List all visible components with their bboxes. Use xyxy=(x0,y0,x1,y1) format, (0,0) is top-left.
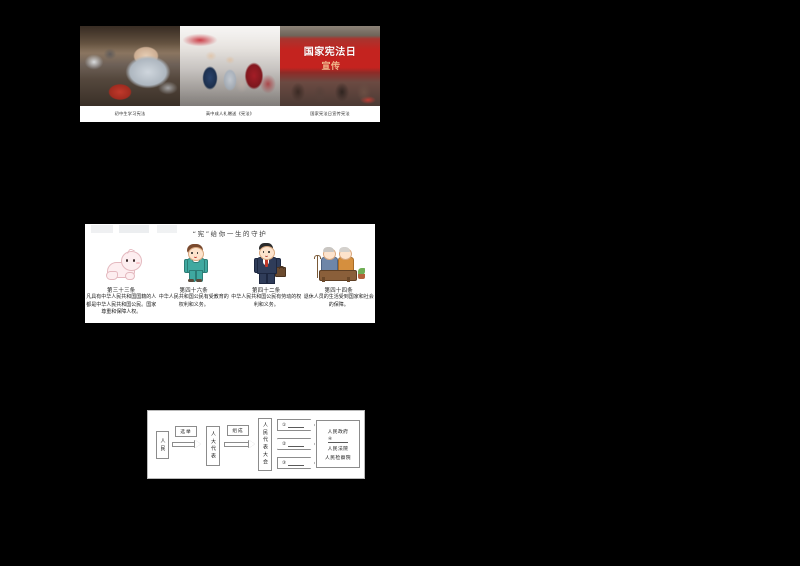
infographic-column-worker: 第四十二条 中华人民共和国公民有劳动的权利和义务。 xyxy=(230,242,303,317)
article-text: 中华人民共和国公民有劳动的权利和义务。 xyxy=(231,294,301,309)
flow-organ-court: 人民法院 xyxy=(328,445,349,452)
photo-overlay xyxy=(180,26,280,106)
flow-label-elect: 选举 xyxy=(175,426,197,437)
infographic-title: “宪”给你一生的守护 xyxy=(85,228,375,238)
article-number: 第四十二条 xyxy=(252,286,280,294)
photo-image-adult-ceremony xyxy=(180,26,280,106)
article-text: 退休人员的生活受到国家和社会的保障。 xyxy=(304,294,374,309)
photo-image-constitution-day: 国家宪法日 宣传 xyxy=(280,26,380,106)
article-number: 第四十四条 xyxy=(325,286,353,294)
flow-organs-box: 人民政府 ④ 人民法院 人民检察院 xyxy=(316,420,360,468)
elderly-couple-icon xyxy=(303,242,375,284)
article-text: 凡具有中华人民共和国国籍的人都是中华人民共和国公民。国家尊重和保障人权。 xyxy=(86,294,156,317)
flow-arrow-2 xyxy=(224,440,256,449)
flow-output-3-blank xyxy=(288,461,304,466)
banner-headline: 国家宪法日 xyxy=(280,43,380,58)
infographic-columns: 第三十三条 凡具有中华人民共和国国籍的人都是中华人民共和国公民。国家尊重和保障人… xyxy=(85,242,375,317)
flow-organ-procuratorate: 人民检察院 xyxy=(325,454,351,461)
photo-strip: 初中生学习宪法 高中成人礼赠送《宪法》 国家宪法日 宣传 国家宪法日宣传宪法 xyxy=(80,26,380,122)
flow-output-1-blank xyxy=(288,423,304,428)
article-number: 第三十三条 xyxy=(107,286,135,294)
photo-caption: 高中成人礼赠送《宪法》 xyxy=(180,106,280,122)
baby-crawling-icon xyxy=(85,242,157,284)
flow-arrow-1 xyxy=(172,440,202,449)
photo-caption: 初中生学习宪法 xyxy=(80,106,180,122)
flow-diagram: 人民 选举 人大代表 组成 人民代表大会 ① ② ③ 人民政府 ④ 人民法院 人… xyxy=(147,410,365,479)
banner-subline: 宣传 xyxy=(282,59,380,72)
flow-node-deputies: 人大代表 xyxy=(206,426,220,466)
flow-organ-government: 人民政府 xyxy=(328,428,349,435)
infographic-column-infant: 第三十三条 凡具有中华人民共和国国籍的人都是中华人民共和国公民。国家尊重和保障人… xyxy=(85,242,158,317)
flow-output-3-marker: ③ xyxy=(282,461,287,466)
photo-caption: 国家宪法日宣传宪法 xyxy=(280,106,380,122)
flow-output-2: ② xyxy=(277,438,315,450)
infographic-column-retiree: 第四十四条 退休人员的生活受到国家和社会的保障。 xyxy=(303,242,376,317)
photo-image-classroom xyxy=(80,26,180,106)
article-text: 中华人民共和国公民有受教育的权利和义务。 xyxy=(159,294,229,309)
photo-overlay xyxy=(80,26,180,106)
constitution-lifecycle-infographic: “宪”给你一生的守护 第三十三条 凡具有中华人民共和国国籍的人都是中华人民共和国… xyxy=(85,224,375,323)
flow-node-congress: 人民代表大会 xyxy=(258,418,272,471)
businessman-icon xyxy=(230,242,302,284)
infographic-column-student: 第四十六条 中华人民共和国公民有受教育的权利和义务。 xyxy=(158,242,231,317)
photo-cell-classroom: 初中生学习宪法 xyxy=(80,26,180,122)
flow-output-1-marker: ① xyxy=(282,423,287,428)
flow-node-people: 人民 xyxy=(156,431,169,459)
flow-output-2-marker: ② xyxy=(282,442,287,447)
photo-cell-constitution-day: 国家宪法日 宣传 国家宪法日宣传宪法 xyxy=(280,26,380,122)
flow-organ-blank-4: ④ xyxy=(328,437,348,443)
photo-cell-adult-ceremony: 高中成人礼赠送《宪法》 xyxy=(180,26,280,122)
flow-output-3: ③ xyxy=(277,457,315,469)
schoolboy-icon xyxy=(158,242,230,284)
article-number: 第四十六条 xyxy=(180,286,208,294)
flow-label-compose: 组成 xyxy=(227,425,249,436)
flow-output-2-blank xyxy=(288,442,304,447)
flow-output-1: ① xyxy=(277,419,315,431)
